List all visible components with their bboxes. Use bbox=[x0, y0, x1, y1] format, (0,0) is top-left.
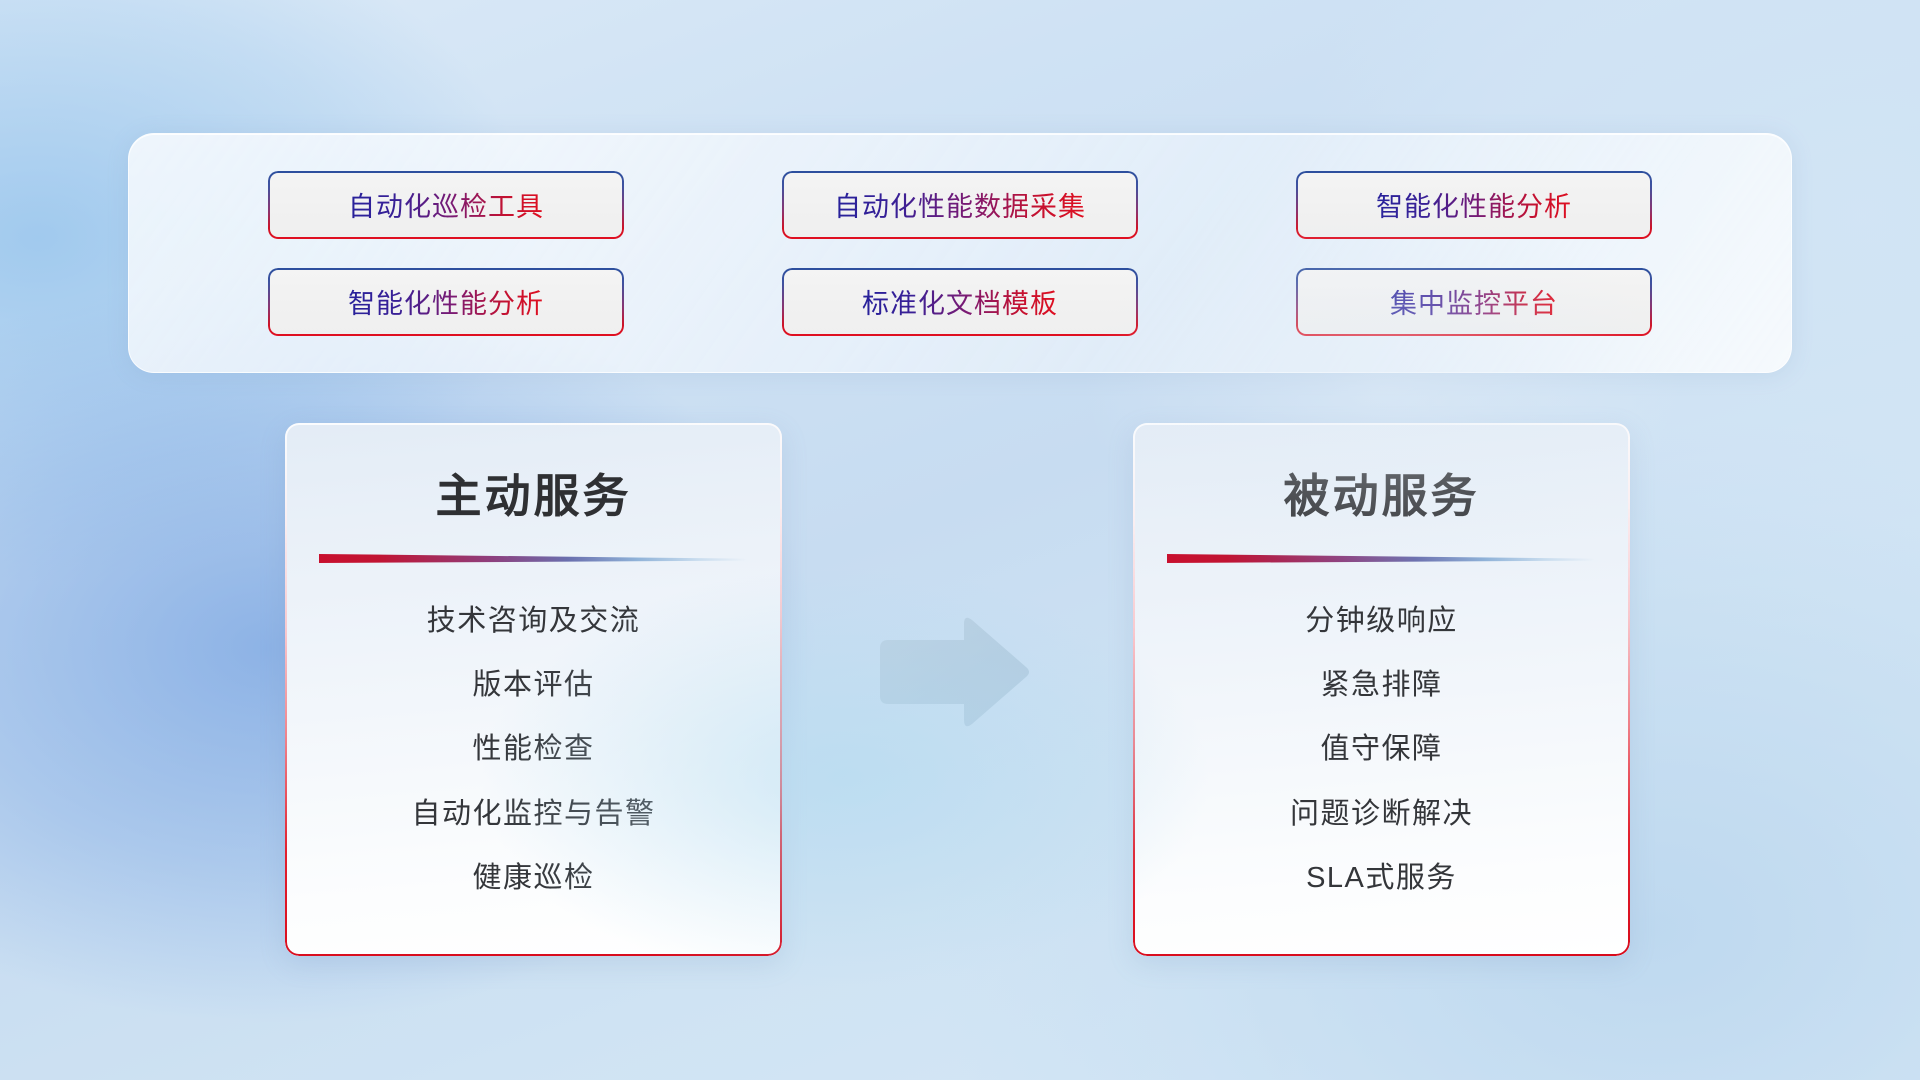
service-list-item: 技术咨询及交流 bbox=[427, 597, 641, 639]
capability-chip-1[interactable]: 自动化巡检工具 bbox=[268, 171, 624, 239]
service-list-item: SLA式服务 bbox=[1306, 854, 1457, 896]
service-card-active[interactable]: 主动服务 技术咨询及交流 版本评估 性能检查 自动化监控与告警 健康巡检 bbox=[285, 423, 782, 956]
service-item-list: 技术咨询及交流 版本评估 性能检查 自动化监控与告警 健康巡检 bbox=[319, 575, 748, 928]
capability-chip-label: 自动化性能数据采集 bbox=[834, 185, 1086, 224]
capability-chip-3[interactable]: 智能化性能分析 bbox=[1296, 171, 1652, 239]
capability-panel: 自动化巡检工具 自动化性能数据采集 智能化性能分析 智能化性能分析 标准化文档模… bbox=[128, 133, 1792, 373]
capability-chip-label: 智能化性能分析 bbox=[348, 282, 544, 321]
service-card-passive[interactable]: 被动服务 分钟级响应 紧急排障 值守保障 问题诊断解决 SLA式服务 bbox=[1133, 423, 1630, 956]
service-card-title: 被动服务 bbox=[1284, 473, 1480, 519]
service-list-item: 自动化监控与告警 bbox=[411, 790, 655, 832]
service-item-list: 分钟级响应 紧急排障 值守保障 问题诊断解决 SLA式服务 bbox=[1167, 575, 1596, 928]
slide-canvas: 自动化巡检工具 自动化性能数据采集 智能化性能分析 智能化性能分析 标准化文档模… bbox=[0, 0, 1920, 1080]
service-list-item: 紧急排障 bbox=[1320, 661, 1442, 703]
service-list-item: 健康巡检 bbox=[472, 854, 594, 896]
capability-chip-label: 集中监控平台 bbox=[1390, 282, 1558, 321]
capability-chip-2[interactable]: 自动化性能数据采集 bbox=[782, 171, 1138, 239]
service-card-title: 主动服务 bbox=[436, 473, 632, 519]
service-list-item: 值守保障 bbox=[1320, 725, 1442, 767]
capability-chip-5[interactable]: 标准化文档模板 bbox=[782, 268, 1138, 336]
capability-chip-4[interactable]: 智能化性能分析 bbox=[268, 268, 624, 336]
service-list-item: 版本评估 bbox=[472, 661, 594, 703]
capability-chip-label: 自动化巡检工具 bbox=[348, 185, 544, 224]
service-list-item: 分钟级响应 bbox=[1305, 597, 1458, 639]
card-divider bbox=[319, 554, 748, 563]
capability-chip-label: 智能化性能分析 bbox=[1376, 185, 1572, 224]
arrow-right-icon bbox=[872, 614, 1032, 732]
capability-chip-6[interactable]: 集中监控平台 bbox=[1296, 268, 1652, 336]
card-divider bbox=[1167, 554, 1596, 563]
service-list-item: 问题诊断解决 bbox=[1290, 790, 1473, 832]
capability-chip-label: 标准化文档模板 bbox=[862, 282, 1058, 321]
service-card-body: 被动服务 分钟级响应 紧急排障 值守保障 问题诊断解决 SLA式服务 bbox=[1133, 423, 1630, 956]
service-list-item: 性能检查 bbox=[472, 725, 594, 767]
service-card-body: 主动服务 技术咨询及交流 版本评估 性能检查 自动化监控与告警 健康巡检 bbox=[285, 423, 782, 956]
